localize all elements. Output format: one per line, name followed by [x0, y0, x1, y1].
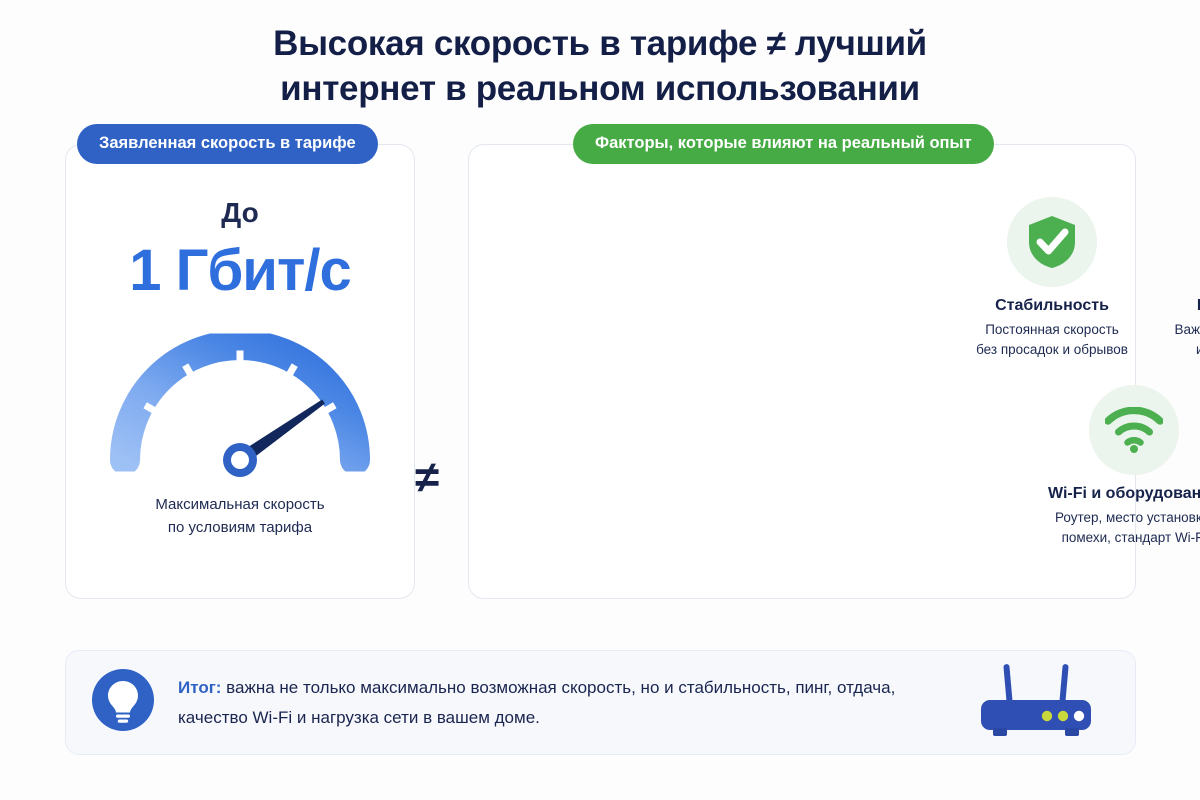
declared-speed-card: До 1 Гбит/с: [65, 144, 415, 599]
factor-desc-line-1: Важен для игр, видеосвязи: [1165, 320, 1200, 340]
factor-desc-line-2: и удалённой работы: [1165, 340, 1200, 360]
summary-bar: Итог: важна не только максимально возмож…: [65, 650, 1136, 755]
page-title-line-1: Высокая скорость в тарифе ≠ лучший: [0, 22, 1200, 67]
factors-pill: Факторы, которые влияют на реальный опыт: [573, 124, 994, 164]
router-icon: [977, 662, 1095, 743]
lightbulb-icon: [92, 669, 154, 736]
factor-title: Стабильность: [957, 297, 1147, 315]
page-title-line-2: интернет в реальном использовании: [0, 67, 1200, 112]
real-experience-factors-card: Стабильность Постоянная скорость без про…: [468, 144, 1136, 599]
summary-body: важна не только максимально возможная ск…: [178, 678, 895, 727]
factor-stability: Стабильность Постоянная скорость без про…: [957, 197, 1147, 361]
factor-ping: Пинг (задержка) Важен для игр, видеосвяз…: [1165, 197, 1200, 361]
page-title: Высокая скорость в тарифе ≠ лучший интер…: [0, 0, 1200, 112]
factor-title: Пинг (задержка): [1165, 297, 1200, 315]
declared-speed-caption-line-1: Максимальная скорость: [66, 493, 414, 516]
factor-desc-line-2: помехи, стандарт Wi-Fi: [1039, 528, 1200, 548]
factor-desc: Роутер, место установки, помехи, стандар…: [1039, 508, 1200, 549]
declared-speed-caption: Максимальная скорость по условиям тарифа: [66, 493, 414, 540]
factor-wifi-equipment: Wi-Fi и оборудование Роутер, место устан…: [1039, 385, 1200, 549]
factor-desc: Важен для игр, видеосвязи и удалённой ра…: [1165, 320, 1200, 361]
declared-speed-pill: Заявленная скорость в тарифе: [77, 124, 378, 164]
declared-speed-caption-line-2: по условиям тарифа: [66, 516, 414, 539]
summary-text: Итог: важна не только максимально возмож…: [178, 673, 948, 733]
factor-title: Wi-Fi и оборудование: [1039, 485, 1200, 503]
shield-check-icon: [1007, 197, 1097, 287]
speedometer-gauge-icon: [66, 320, 414, 480]
not-equal-symbol: ≠: [415, 456, 439, 500]
factor-desc-line-1: Роутер, место установки,: [1039, 508, 1200, 528]
wifi-icon: [1089, 385, 1179, 475]
comparison-stage: До 1 Гбит/с: [0, 126, 1200, 626]
factor-desc: Постоянная скорость без просадок и обрыв…: [957, 320, 1147, 361]
speed-value: 1 Гбит/с: [66, 237, 414, 304]
summary-label: Итог:: [178, 678, 221, 697]
factor-desc-line-1: Постоянная скорость: [957, 320, 1147, 340]
factor-desc-line-2: без просадок и обрывов: [957, 340, 1147, 360]
speed-prefix-label: До: [66, 197, 414, 229]
